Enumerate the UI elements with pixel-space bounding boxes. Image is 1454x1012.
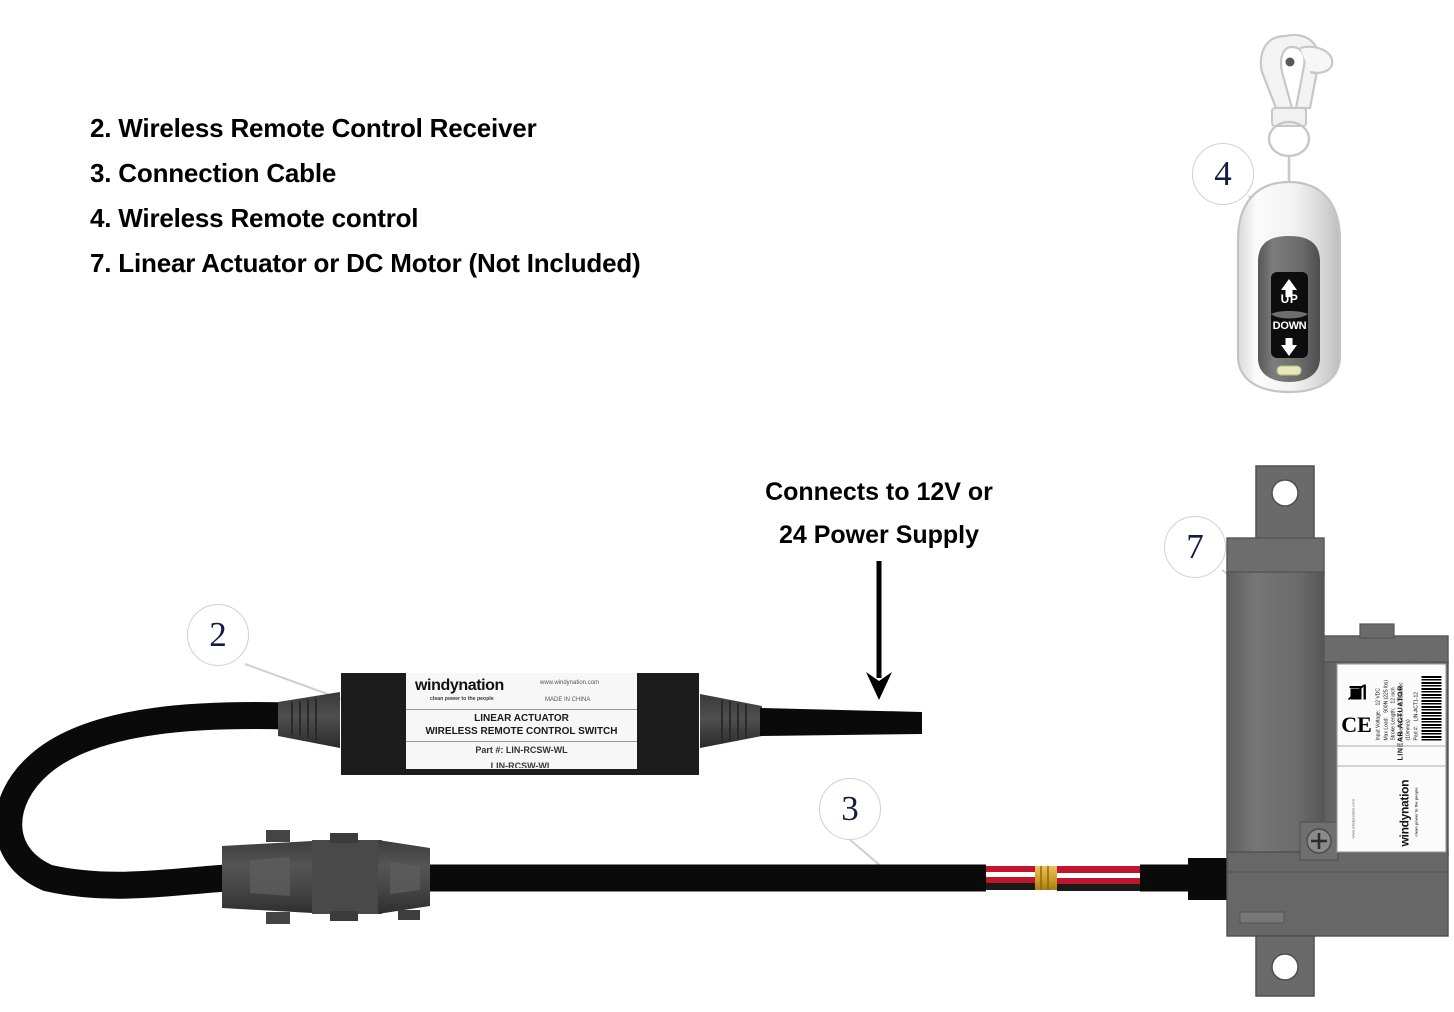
cable-splice-right bbox=[1057, 866, 1143, 891]
power-supply-cable bbox=[760, 708, 922, 736]
bullet-connector bbox=[1035, 866, 1057, 890]
diagram-canvas: 2. Wireless Remote Control Receiver 3. C… bbox=[0, 0, 1454, 1012]
callout-2: 2 bbox=[187, 604, 249, 666]
receiver-tagline: clean power to the people bbox=[430, 696, 494, 702]
spec-val-1: 900N (225 lbs) bbox=[1383, 679, 1389, 712]
receiver-product-line-2: WIRELESS REMOTE CONTROL SWITCH bbox=[406, 726, 637, 737]
callout-4: 4 bbox=[1192, 143, 1254, 205]
callout-3: 3 bbox=[819, 778, 881, 840]
spec-val-0: 12 VDC bbox=[1375, 688, 1381, 706]
receiver-label: windynation clean power to the people ww… bbox=[406, 673, 637, 769]
remote-down-button[interactable]: DOWN bbox=[1271, 316, 1308, 358]
inline-cable-connector bbox=[222, 830, 430, 924]
actuator-brand: windynation bbox=[1397, 779, 1411, 846]
receiver-origin: MADE IN CHINA bbox=[545, 697, 590, 703]
spec-val-4: LIN-ACT1-12 bbox=[1413, 691, 1419, 720]
actuator-screw bbox=[1300, 822, 1338, 860]
remote-up-button[interactable]: UP bbox=[1271, 272, 1308, 314]
ce-mark-icon: CE bbox=[1341, 712, 1372, 738]
actuator-website: www.windynation.com bbox=[1350, 799, 1355, 838]
remote-keyring-clasp bbox=[1261, 35, 1332, 186]
spec-key-0: Input Voltage: bbox=[1375, 709, 1381, 740]
spec-key-2: Stroke Length: bbox=[1390, 707, 1396, 740]
receiver-product-line-1: LINEAR ACTUATOR bbox=[406, 713, 637, 724]
remote-down-label: DOWN bbox=[1271, 320, 1308, 332]
receiver-part-number: Part #: LIN-RCSW-WL bbox=[406, 745, 637, 755]
receiver-website: www.windynation.com bbox=[540, 680, 599, 686]
actuator-label: windynation clean power to the people ww… bbox=[1337, 664, 1446, 852]
receiver-left-strain-relief bbox=[278, 692, 340, 748]
callout-7: 7 bbox=[1164, 516, 1226, 578]
barcode bbox=[1421, 674, 1441, 740]
receiver-brand: windynation bbox=[415, 677, 504, 695]
spec-val-2: 12 inch bbox=[1390, 687, 1396, 703]
receiver-right-strain-relief bbox=[700, 694, 762, 748]
spec-key-1: Max Load: bbox=[1383, 717, 1389, 740]
power-supply-arrow bbox=[866, 561, 892, 700]
weee-bin-icon bbox=[1347, 682, 1367, 702]
actuator-bottom-bracket bbox=[1256, 936, 1314, 996]
spec-key-4: Part #: bbox=[1413, 725, 1419, 740]
receiver-label-cropped-line: LIN-RCSW-WL bbox=[406, 761, 637, 768]
actuator-tagline: clean power to the people bbox=[1413, 787, 1418, 836]
remote-up-label: UP bbox=[1271, 292, 1308, 306]
spec-key-3: Travel Speed: bbox=[1398, 709, 1404, 740]
